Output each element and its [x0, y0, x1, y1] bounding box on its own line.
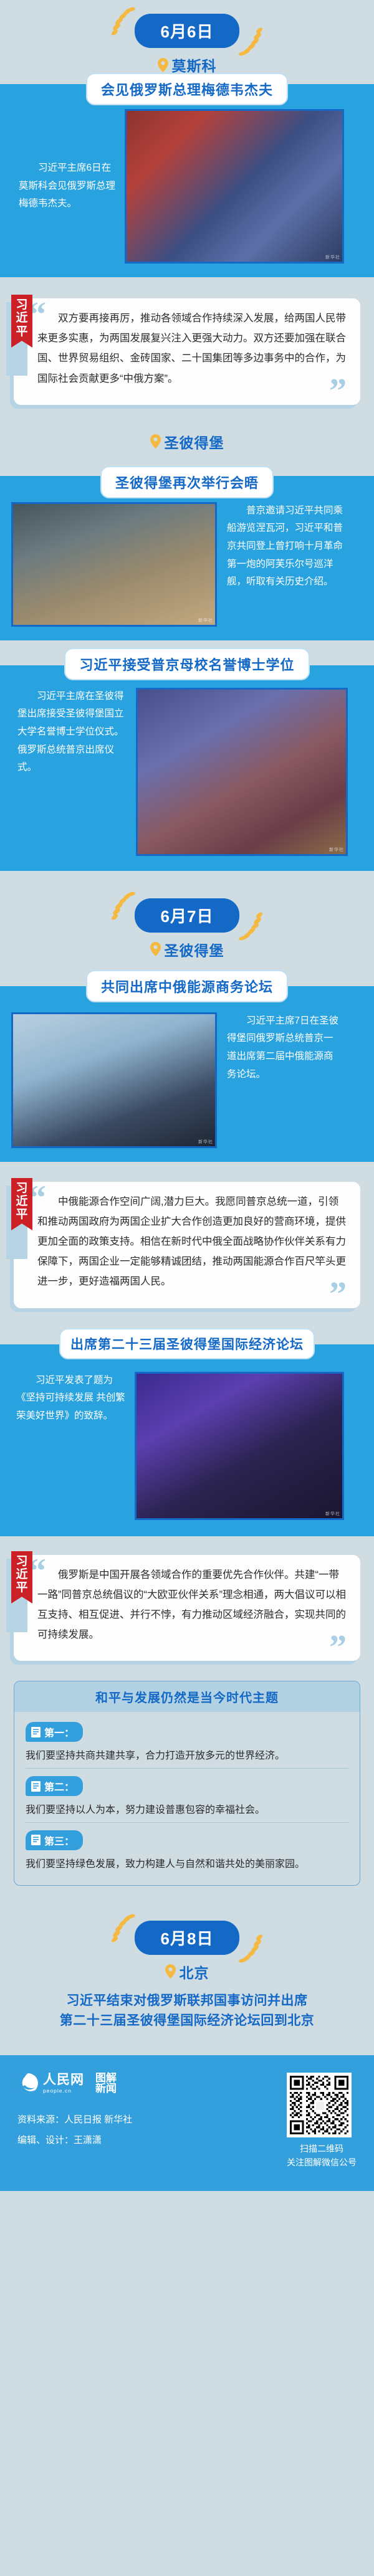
speaker-name-tag: 习 近 平 — [11, 295, 32, 341]
city-row-spb-1: 圣彼得堡 — [0, 431, 374, 452]
section-header-june6: 6月6日 莫斯科 — [0, 0, 374, 84]
qr-section: 扫描二维码 关注图解微信公号 — [287, 2073, 357, 2170]
location-pin-icon — [150, 942, 161, 956]
photo-caption-row: 习近平主席在圣彼得堡出席接受圣彼得堡国立大学名誉博士学位仪式。俄罗斯总统普京出席… — [0, 688, 374, 856]
tujie-line2: 新闻 — [95, 2083, 117, 2094]
date-block-june7: 6月7日 圣彼得堡 — [0, 898, 374, 960]
point-tag-label: 第二： — [44, 1779, 74, 1794]
wheat-left-icon — [111, 6, 138, 45]
location-pin-icon — [158, 58, 168, 72]
quote-block-3: 习 近 平 “ ” 俄罗斯是中国开展各领域合作的重要优先合作伙伴。共建“一带一路… — [0, 1536, 374, 1678]
quote-card: 习 近 平 “ ” 双方要再接再厉，推动各领域合作持续深入发展，给两国人民带来更… — [14, 298, 360, 405]
people-cn-text: 人民网 people.cn — [43, 2073, 84, 2094]
tujie-news-logo: 图解 新闻 — [95, 2073, 117, 2094]
quote-text: 中俄能源合作空间广阔,潜力巨大。我愿同普京总统一道，引领和推动两国政府为两国企业… — [37, 1192, 348, 1292]
section-title-meet-medvedev: 会见俄罗斯总理梅德韦杰夫 — [86, 73, 288, 105]
photo-caption-row: 习近平主席6日在莫斯科会见俄罗斯总理梅德韦杰夫。 新华社 — [0, 109, 374, 264]
photo-xi-spief-speech: 新华社 — [135, 1372, 344, 1520]
photo-caption: 普京邀请习近平共同乘船游览涅瓦河，习近平和普京共同登上曾打响十月革命第一炮的阿芙… — [217, 502, 343, 591]
date-block-june6: 6月6日 莫斯科 — [0, 14, 374, 75]
point-text: 我们要坚持共商共建共享，合力打造开放多元的世界经济。 — [26, 1747, 348, 1766]
photo-watermark: 新华社 — [198, 1139, 213, 1145]
section-title-spb-meeting: 圣彼得堡再次举行会晤 — [100, 466, 274, 498]
quote-text: 俄罗斯是中国开展各领域合作的重要优先合作伙伴。共建“一带一路”同普京总统倡议的“… — [37, 1565, 348, 1645]
point-tag-label: 第三： — [44, 1833, 74, 1848]
block-spief: 习近平发表了题为《坚持可持续发展 共创繁荣美好世界》的致辞。 新华社 — [0, 1344, 374, 1536]
point-text: 我们要坚持以人为本，努力建设普惠包容的幸福社会。 — [26, 1802, 348, 1820]
photo-caption-row: 习近平发表了题为《坚持可持续发展 共创繁荣美好世界》的致辞。 新华社 — [0, 1372, 374, 1520]
tujie-line1: 图解 — [95, 2073, 117, 2083]
document-icon — [31, 1726, 41, 1738]
block-three-points: 和平与发展仍然是当今时代主题 第一： 我们要坚持共商共建共享，合力打造开放多元的… — [0, 1677, 374, 1910]
photo-caption: 习近平主席在圣彼得堡出席接受圣彼得堡国立大学名誉博士学位仪式。俄罗斯总统普京出席… — [17, 688, 136, 777]
point-tag-3: 第三： — [26, 1830, 83, 1850]
section-title-energy-forum: 共同出席中俄能源商务论坛 — [86, 970, 288, 1002]
point-tag-1: 第一： — [26, 1722, 83, 1742]
photo-watermark: 新华社 — [198, 617, 213, 624]
photo-xi-putin-boat: 新华社 — [11, 502, 217, 627]
photo-rcebf-forum: 新华社 — [11, 1012, 217, 1148]
photo-caption-row: 新华社 习近平主席7日在圣彼得堡同俄罗斯总统普京一道出席第二届中俄能源商务论坛。 — [0, 1012, 374, 1148]
point-tag-2: 第二： — [26, 1776, 83, 1796]
qr-caption-line1: 扫描二维码 — [287, 2142, 357, 2155]
block-spb-meeting: 新华社 普京邀请习近平共同乘船游览涅瓦河，习近平和普京共同登上曾打响十月革命第一… — [0, 476, 374, 640]
photo-watermark: 新华社 — [329, 847, 344, 853]
document-icon — [31, 1834, 41, 1846]
footer-logos: 人民网 people.cn 图解 新闻 — [17, 2073, 278, 2094]
source-line: 资料来源：人民日报 新华社 — [17, 2110, 278, 2130]
speaker-name-tag: 习 近 平 — [11, 1551, 32, 1597]
photo-doctorate-ceremony: 新华社 — [136, 688, 348, 856]
section-header-spb-1: 圣彼得堡 — [0, 422, 374, 459]
quote-card: 习 近 平 “ ” 中俄能源合作空间广阔,潜力巨大。我愿同普京总统一道，引领和推… — [14, 1182, 360, 1308]
block-honorary-doctorate: 习近平主席在圣彼得堡出席接受圣彼得堡国立大学名誉博士学位仪式。俄罗斯总统普京出席… — [0, 665, 374, 871]
block-meet-medvedev: 习近平主席6日在莫斯科会见俄罗斯总理梅德韦杰夫。 新华社 — [0, 84, 374, 277]
point-tag-label: 第一： — [44, 1724, 74, 1739]
point-item: 第一： 我们要坚持共商共建共享，合力打造开放多元的世界经济。 — [26, 1714, 348, 1768]
photo-caption-row: 新华社 普京邀请习近平共同乘船游览涅瓦河，习近平和普京共同登上曾打响十月革命第一… — [0, 502, 374, 627]
city-row-june7: 圣彼得堡 — [0, 939, 374, 960]
date-badge-label: 6月8日 — [135, 1921, 240, 1955]
date-badge-label: 6月6日 — [135, 14, 240, 48]
wheat-right-icon — [236, 18, 263, 57]
quote-text: 双方要再接再厉，推动各领域合作持续深入发展，给两国人民带来更多实惠，为两国发展复… — [37, 308, 348, 389]
date-block-june8: 6月8日 北京 习近平结束对俄罗斯联邦国事访问并出席 第二十三届圣彼得堡国际经济… — [0, 1921, 374, 2032]
point-item: 第三： 我们要坚持绿色发展，致力构建人与自然和谐共处的美丽家园。 — [26, 1822, 348, 1876]
section-header-june7: 6月7日 圣彼得堡 — [0, 871, 374, 969]
point-item: 第二： 我们要坚持以人为本，努力建设普惠包容的幸福社会。 — [26, 1768, 348, 1822]
location-pin-icon — [150, 434, 161, 449]
qr-caption: 扫描二维码 关注图解微信公号 — [287, 2142, 357, 2170]
city-name: 莫斯科 — [172, 54, 217, 75]
document-icon — [31, 1780, 41, 1792]
final-headline-line2: 第二十三届圣彼得堡国际经济论坛回到北京 — [9, 2011, 365, 2032]
infographic-page: 6月6日 莫斯科 会见俄罗斯总理梅德韦杰夫 习近平主席6日在莫斯科会见俄罗斯总理… — [0, 0, 374, 2191]
point-text: 我们要坚持绿色发展，致力构建人与自然和谐共处的美丽家园。 — [26, 1856, 348, 1874]
date-badge-label: 6月7日 — [135, 898, 240, 933]
photo-caption: 习近平主席7日在圣彼得堡同俄罗斯总统普京一道出席第二届中俄能源商务论坛。 — [217, 1012, 340, 1084]
footer: 人民网 people.cn 图解 新闻 资料来源：人民日报 新华社 编辑、设计：… — [0, 2055, 374, 2191]
wheat-right-icon — [236, 903, 263, 941]
photo-caption: 习近平发表了题为《坚持可持续发展 共创繁荣美好世界》的致辞。 — [16, 1372, 135, 1425]
wheat-left-icon — [111, 1913, 138, 1952]
block-energy-forum: 新华社 习近平主席7日在圣彼得堡同俄罗斯总统普京一道出席第二届中俄能源商务论坛。 — [0, 986, 374, 1162]
photo-watermark: 新华社 — [325, 1511, 340, 1517]
section-title-honorary-doctorate: 习近平接受普京母校名誉博士学位 — [64, 648, 309, 680]
speaker-name-tag: 习 近 平 — [11, 1178, 32, 1224]
city-row-june8: 北京 — [0, 1961, 374, 1982]
quote-block-2: 习 近 平 “ ” 中俄能源合作空间广阔,潜力巨大。我愿同普京总统一道，引领和推… — [0, 1162, 374, 1326]
people-cn-cn: 人民网 — [43, 2073, 84, 2087]
quote-card: 习 近 平 “ ” 俄罗斯是中国开展各领域合作的重要优先合作伙伴。共建“一带一路… — [14, 1555, 360, 1661]
people-cn-url: people.cn — [43, 2088, 84, 2094]
credit-line: 编辑、设计：王潇潇 — [17, 2131, 278, 2151]
wheat-right-icon — [236, 1925, 263, 1964]
qr-caption-line2: 关注图解微信公号 — [287, 2155, 357, 2169]
final-headline: 习近平结束对俄罗斯联邦国事访问并出席 第二十三届圣彼得堡国际经济论坛回到北京 — [0, 1991, 374, 2032]
photo-watermark: 新华社 — [325, 254, 340, 260]
photo-caption: 习近平主席6日在莫斯科会见俄罗斯总理梅德韦杰夫。 — [19, 159, 125, 213]
city-name: 北京 — [180, 1961, 209, 1982]
panel-heading: 和平与发展仍然是当今时代主题 — [14, 1681, 360, 1712]
people-cn-logo: 人民网 people.cn — [17, 2073, 84, 2094]
city-row-june6: 莫斯科 — [0, 54, 374, 75]
final-headline-line1: 习近平结束对俄罗斯联邦国事访问并出席 — [9, 1991, 365, 2012]
wheat-left-icon — [111, 891, 138, 929]
photo-xi-medvedev: 新华社 — [125, 109, 344, 264]
qr-code[interactable] — [287, 2073, 352, 2137]
city-name: 圣彼得堡 — [165, 431, 224, 452]
three-points-panel: 和平与发展仍然是当今时代主题 第一： 我们要坚持共商共建共享，合力打造开放多元的… — [14, 1681, 360, 1885]
location-pin-icon — [165, 1964, 176, 1979]
section-header-june8: 6月8日 北京 习近平结束对俄罗斯联邦国事访问并出席 第二十三届圣彼得堡国际经济… — [0, 1911, 374, 2055]
city-name: 圣彼得堡 — [165, 939, 224, 960]
people-moon-icon — [17, 2073, 39, 2094]
section-title-spief: 出席第二十三届圣彼得堡国际经济论坛 — [59, 1328, 315, 1359]
quote-block-1: 习 近 平 “ ” 双方要再接再厉，推动各领域合作持续深入发展，给两国人民带来更… — [0, 277, 374, 422]
qr-code-image — [290, 2076, 348, 2134]
